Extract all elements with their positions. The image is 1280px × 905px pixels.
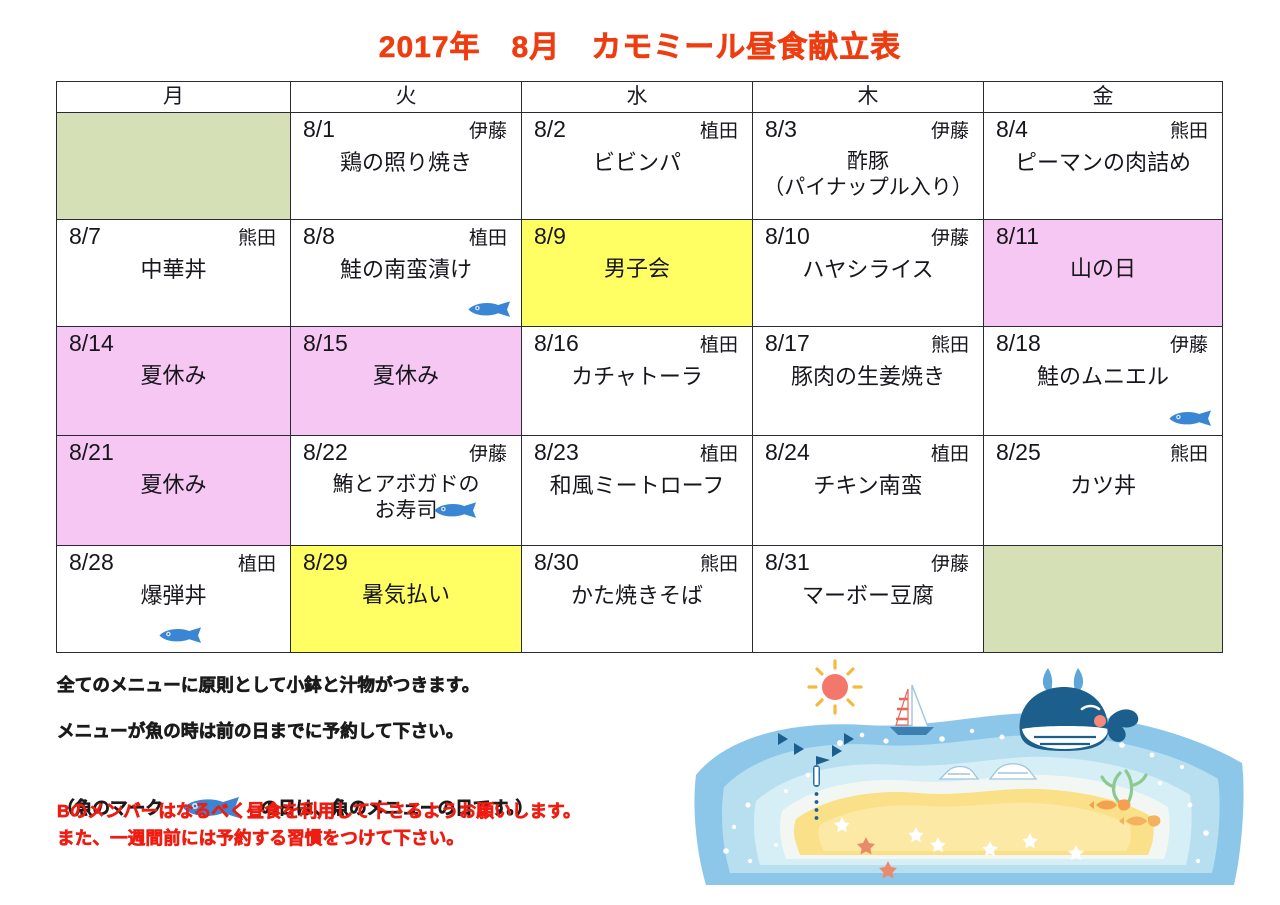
calendar-cell-inner: 8/3伊藤酢豚 （パイナップル入り） xyxy=(753,113,983,219)
cell-chef-name: 熊田 xyxy=(700,554,738,576)
calendar-cell-inner: 8/18伊藤鮭のムニエル xyxy=(984,327,1222,435)
cell-date: 8/15 xyxy=(303,330,348,356)
calendar-cell: 8/23植田和風ミートローフ xyxy=(522,436,753,546)
cell-date: 8/18 xyxy=(996,330,1041,356)
calendar-cell-header: 8/23植田 xyxy=(522,436,752,466)
calendar-cell-empty xyxy=(57,113,291,220)
calendar-cell: 8/28植田爆弾丼 xyxy=(57,546,291,653)
calendar-cell-header: 8/7熊田 xyxy=(57,220,290,250)
cell-chef-name: 伊藤 xyxy=(469,121,507,143)
sailboat-icon xyxy=(890,685,934,735)
calendar-cell: 8/29暑気払い xyxy=(291,546,522,653)
calendar-cell-inner: 8/28植田爆弾丼 xyxy=(57,546,290,652)
calendar-cell: 8/2植田ビビンパ xyxy=(522,113,753,220)
cell-menu-text: 鮪とアボガドの お寿司 xyxy=(291,466,521,525)
cell-date: 8/22 xyxy=(303,439,348,465)
calendar-cell: 8/22伊藤鮪とアボガドの お寿司 xyxy=(291,436,522,546)
cell-date: 8/29 xyxy=(303,549,348,575)
calendar-cell-inner: 8/15夏休み xyxy=(291,327,521,435)
cell-menu-text: チキン南蛮 xyxy=(753,466,983,500)
weekday-header-mon: 月 xyxy=(57,82,291,113)
calendar-cell-inner: 8/4熊田ピーマンの肉詰め xyxy=(984,113,1222,219)
cell-date: 8/11 xyxy=(996,223,1039,249)
cell-chef-name: 熊田 xyxy=(1170,444,1208,466)
cell-chef-name: 植田 xyxy=(469,228,507,250)
calendar-cell: 8/21夏休み xyxy=(57,436,291,546)
cell-menu-text: 山の日 xyxy=(984,249,1222,283)
calendar-cell-inner: 8/22伊藤鮪とアボガドの お寿司 xyxy=(291,436,521,545)
page-title: 2017年 8月 カモミール昼食献立表 xyxy=(0,22,1280,66)
calendar-week-row: 8/7熊田中華丼8/8植田鮭の南蛮漬け8/9男子会8/10伊藤ハヤシライス8/1… xyxy=(57,220,1223,327)
calendar-cell-inner: 8/23植田和風ミートローフ xyxy=(522,436,752,545)
cell-chef-name: 伊藤 xyxy=(931,554,969,576)
cell-chef-name: 伊藤 xyxy=(1170,335,1208,357)
calendar-cell-header: 8/25熊田 xyxy=(984,436,1222,466)
calendar-week-row: 8/14夏休み8/15夏休み8/16植田カチャトーラ8/17熊田豚肉の生姜焼き8… xyxy=(57,327,1223,436)
calendar-cell-inner: 8/24植田チキン南蛮 xyxy=(753,436,983,545)
menu-poster-page: 2017年 8月 カモミール昼食献立表 月 火 水 木 金 8/1伊藤鶏の照り焼… xyxy=(0,0,1280,905)
cell-menu-text: 酢豚 （パイナップル入り） xyxy=(753,143,983,202)
calendar-cell-header: 8/16植田 xyxy=(522,327,752,357)
calendar-cell-empty xyxy=(984,546,1223,653)
calendar-cell-header: 8/30熊田 xyxy=(522,546,752,576)
cell-menu-text: カチャトーラ xyxy=(522,357,752,391)
calendar-cell-header: 8/9 xyxy=(522,220,752,249)
weekday-header-row: 月 火 水 木 金 xyxy=(57,82,1223,113)
calendar-cell: 8/18伊藤鮭のムニエル xyxy=(984,327,1223,436)
cell-menu-text: カツ丼 xyxy=(984,466,1222,500)
cell-chef-name: 植田 xyxy=(931,444,969,466)
cell-menu-text: 男子会 xyxy=(522,249,752,283)
calendar-week-row: 8/1伊藤鶏の照り焼き8/2植田ビビンパ8/3伊藤酢豚 （パイナップル入り）8/… xyxy=(57,113,1223,220)
cell-date: 8/24 xyxy=(765,439,810,465)
calendar-cell-header: 8/14 xyxy=(57,327,290,356)
cell-menu-text: ハヤシライス xyxy=(753,250,983,284)
calendar-cell-header: 8/11 xyxy=(984,220,1222,249)
summer-beach-whale-illustration xyxy=(690,655,1250,900)
calendar-cell-header: 8/1伊藤 xyxy=(291,113,521,143)
cell-date: 8/30 xyxy=(534,549,579,575)
calendar-cell: 8/11山の日 xyxy=(984,220,1223,327)
calendar-cell: 8/4熊田ピーマンの肉詰め xyxy=(984,113,1223,220)
calendar-cell-header: 8/21 xyxy=(57,436,290,465)
calendar-cell-inner: 8/17熊田豚肉の生姜焼き xyxy=(753,327,983,435)
calendar-cell-inner: 8/7熊田中華丼 xyxy=(57,220,290,326)
calendar-body: 8/1伊藤鶏の照り焼き8/2植田ビビンパ8/3伊藤酢豚 （パイナップル入り）8/… xyxy=(57,113,1223,653)
cell-date: 8/21 xyxy=(69,439,114,465)
cell-menu-text: 爆弾丼 xyxy=(57,576,290,610)
calendar-cell-header: 8/28植田 xyxy=(57,546,290,576)
calendar-cell-inner: 8/2植田ビビンパ xyxy=(522,113,752,219)
cell-menu-text: 夏休み xyxy=(57,356,290,390)
cell-menu-text: かた焼きそば xyxy=(522,576,752,610)
cell-chef-name: 熊田 xyxy=(1170,121,1208,143)
cell-menu-text: 豚肉の生姜焼き xyxy=(753,357,983,391)
cell-date: 8/28 xyxy=(69,549,114,575)
weekday-header-wed: 水 xyxy=(522,82,753,113)
calendar-cell-header: 8/18伊藤 xyxy=(984,327,1222,357)
cell-chef-name: 熊田 xyxy=(931,335,969,357)
cell-date: 8/31 xyxy=(765,549,810,575)
cell-chef-name: 植田 xyxy=(700,444,738,466)
weekday-header-thu: 木 xyxy=(753,82,984,113)
calendar-cell-header: 8/2植田 xyxy=(522,113,752,143)
calendar-cell-header: 8/29 xyxy=(291,546,521,575)
calendar-cell-inner: 8/10伊藤ハヤシライス xyxy=(753,220,983,326)
calendar-cell: 8/9男子会 xyxy=(522,220,753,327)
cell-menu-text: 夏休み xyxy=(291,356,521,390)
red-notes-block: Bのメンバーはなるべく昼食を利用して下さるようお願いします。 また、一週間前には… xyxy=(57,798,737,852)
weekday-header-fri: 金 xyxy=(984,82,1223,113)
note-spacer xyxy=(57,698,717,718)
cell-date: 8/16 xyxy=(534,330,579,356)
cell-chef-name: 植田 xyxy=(700,335,738,357)
calendar-cell: 8/14夏休み xyxy=(57,327,291,436)
fish-icon xyxy=(158,627,204,644)
cell-date: 8/17 xyxy=(765,330,810,356)
calendar-cell-inner: 8/30熊田かた焼きそば xyxy=(522,546,752,652)
sun-icon xyxy=(809,661,861,713)
calendar-cell: 8/16植田カチャトーラ xyxy=(522,327,753,436)
cell-menu-text: ピーマンの肉詰め xyxy=(984,143,1222,177)
cell-chef-name: 熊田 xyxy=(238,228,276,250)
calendar-cell-header: 8/15 xyxy=(291,327,521,356)
menu-calendar-table: 月 火 水 木 金 8/1伊藤鶏の照り焼き8/2植田ビビンパ8/3伊藤酢豚 （パ… xyxy=(56,81,1223,653)
cell-menu-text: 鮭の南蛮漬け xyxy=(291,250,521,284)
cell-chef-name: 植田 xyxy=(238,554,276,576)
calendar-cell: 8/17熊田豚肉の生姜焼き xyxy=(753,327,984,436)
cell-date: 8/2 xyxy=(534,116,566,142)
cell-menu-text: 鮭のムニエル xyxy=(984,357,1222,391)
fish-icon xyxy=(433,502,479,519)
cell-chef-name: 植田 xyxy=(700,121,738,143)
calendar-cell: 8/30熊田かた焼きそば xyxy=(522,546,753,653)
note-line-2: メニューが魚の時は前の日までに予約して下さい。 xyxy=(57,718,717,744)
calendar-cell-inner: 8/29暑気払い xyxy=(291,546,521,652)
fish-icon xyxy=(1168,410,1214,427)
calendar-cell-inner: 8/21夏休み xyxy=(57,436,290,545)
cell-date: 8/14 xyxy=(69,330,114,356)
calendar-cell-inner: 8/1伊藤鶏の照り焼き xyxy=(291,113,521,219)
calendar-cell-header: 8/3伊藤 xyxy=(753,113,983,143)
calendar-cell-header: 8/17熊田 xyxy=(753,327,983,357)
calendar-cell: 8/25熊田カツ丼 xyxy=(984,436,1223,546)
whale-icon xyxy=(1020,668,1139,751)
cell-date: 8/9 xyxy=(534,223,566,249)
note-line-1: 全てのメニューに原則として小鉢と汁物がつきます。 xyxy=(57,672,717,698)
cell-chef-name: 伊藤 xyxy=(469,444,507,466)
cell-menu-text: 中華丼 xyxy=(57,250,290,284)
cell-menu-text: ビビンパ xyxy=(522,143,752,177)
cell-menu-text: 夏休み xyxy=(57,465,290,499)
calendar-cell-header: 8/22伊藤 xyxy=(291,436,521,466)
calendar-cell-header: 8/31伊藤 xyxy=(753,546,983,576)
calendar-cell-inner: 8/11山の日 xyxy=(984,220,1222,326)
calendar-cell-inner: 8/25熊田カツ丼 xyxy=(984,436,1222,545)
weekday-header-tue: 火 xyxy=(291,82,522,113)
calendar-cell-inner: 8/8植田鮭の南蛮漬け xyxy=(291,220,521,326)
cell-date: 8/23 xyxy=(534,439,579,465)
calendar-cell-inner: 8/16植田カチャトーラ xyxy=(522,327,752,435)
cell-chef-name: 伊藤 xyxy=(931,121,969,143)
cell-date: 8/3 xyxy=(765,116,797,142)
calendar-cell: 8/15夏休み xyxy=(291,327,522,436)
cell-date: 8/4 xyxy=(996,116,1028,142)
calendar-cell: 8/10伊藤ハヤシライス xyxy=(753,220,984,327)
cell-menu-text: マーボー豆腐 xyxy=(753,576,983,610)
calendar-cell-inner: 8/9男子会 xyxy=(522,220,752,326)
cell-menu-text: 暑気払い xyxy=(291,575,521,609)
calendar-cell-inner: 8/31伊藤マーボー豆腐 xyxy=(753,546,983,652)
fish-icon xyxy=(467,301,513,318)
calendar-cell-header: 8/8植田 xyxy=(291,220,521,250)
red-note-line-2: また、一週間前には予約する習慣をつけて下さい。 xyxy=(57,825,737,852)
calendar-cell: 8/3伊藤酢豚 （パイナップル入り） xyxy=(753,113,984,220)
cell-date: 8/7 xyxy=(69,223,101,249)
cell-date: 8/1 xyxy=(303,116,335,142)
calendar-cell-inner: 8/14夏休み xyxy=(57,327,290,435)
calendar-cell-header: 8/4熊田 xyxy=(984,113,1222,143)
cell-chef-name: 伊藤 xyxy=(931,228,969,250)
cell-menu-text: 鶏の照り焼き xyxy=(291,143,521,177)
calendar-cell: 8/7熊田中華丼 xyxy=(57,220,291,327)
calendar-cell: 8/31伊藤マーボー豆腐 xyxy=(753,546,984,653)
cell-date: 8/10 xyxy=(765,223,810,249)
cell-menu-text: 和風ミートローフ xyxy=(522,466,752,500)
cell-date: 8/25 xyxy=(996,439,1041,465)
calendar-cell: 8/1伊藤鶏の照り焼き xyxy=(291,113,522,220)
cell-date: 8/8 xyxy=(303,223,335,249)
calendar-week-row: 8/28植田爆弾丼8/29暑気払い8/30熊田かた焼きそば8/31伊藤マーボー豆… xyxy=(57,546,1223,653)
red-note-line-1: Bのメンバーはなるべく昼食を利用して下さるようお願いします。 xyxy=(57,798,737,825)
calendar-cell-header: 8/24植田 xyxy=(753,436,983,466)
calendar-cell-header: 8/10伊藤 xyxy=(753,220,983,250)
calendar-cell: 8/24植田チキン南蛮 xyxy=(753,436,984,546)
calendar-week-row: 8/21夏休み8/22伊藤鮪とアボガドの お寿司8/23植田和風ミートローフ8/… xyxy=(57,436,1223,546)
calendar-cell: 8/8植田鮭の南蛮漬け xyxy=(291,220,522,327)
